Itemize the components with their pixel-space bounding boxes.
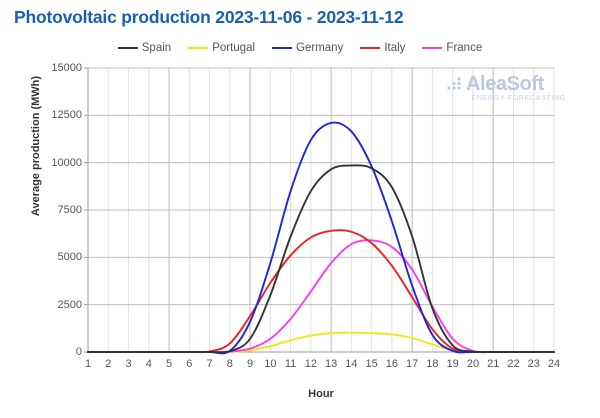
y-tick-label: 2500	[34, 299, 82, 311]
y-tick-label: 0	[34, 346, 82, 358]
x-tick-label: 10	[264, 358, 276, 370]
x-tick-label: 21	[487, 358, 499, 370]
x-tick-label: 22	[507, 358, 519, 370]
x-tick-label: 3	[125, 358, 131, 370]
x-tick-label: 15	[366, 358, 378, 370]
x-tick-label: 11	[285, 358, 296, 370]
x-tick-label: 1	[85, 358, 91, 370]
chart-container: Photovoltaic production 2023-11-06 - 202…	[0, 0, 600, 418]
x-tick-label: 8	[227, 358, 233, 370]
x-tick-label: 23	[528, 358, 540, 370]
y-tick-label: 5000	[34, 251, 82, 263]
x-tick-label: 19	[447, 358, 459, 370]
x-tick-label: 16	[386, 358, 398, 370]
y-axis-title: Average production (MWh)	[30, 46, 42, 246]
x-tick-label: 4	[146, 358, 152, 370]
x-tick-label: 20	[467, 358, 479, 370]
x-tick-label: 13	[325, 358, 337, 370]
x-axis-title: Hour	[88, 388, 554, 400]
x-tick-label: 5	[166, 358, 172, 370]
plot-svg	[0, 0, 600, 418]
x-tick-label: 6	[186, 358, 192, 370]
x-tick-label: 12	[305, 358, 317, 370]
x-tick-label: 24	[548, 358, 560, 370]
x-tick-label: 7	[207, 358, 213, 370]
plot-area-wrapper	[0, 0, 600, 418]
x-tick-label: 18	[426, 358, 438, 370]
x-tick-label: 9	[247, 358, 253, 370]
x-tick-label: 14	[345, 358, 357, 370]
x-tick-label: 2	[105, 358, 111, 370]
x-tick-label: 17	[406, 358, 418, 370]
